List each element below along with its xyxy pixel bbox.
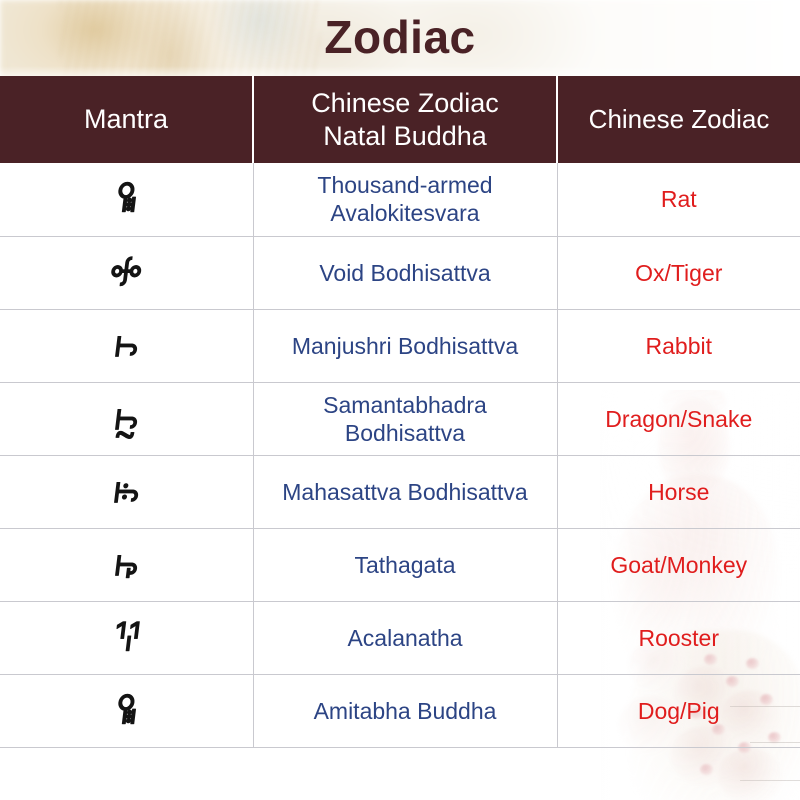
table-body: ꖥ Thousand-armed Avalokitesvara Rat ꖢ Vo… (0, 163, 800, 747)
cell-natal-buddha: Void Bodhisattva (253, 236, 557, 309)
cell-chinese-zodiac: Dog/Pig (557, 674, 800, 747)
natal-buddha-line1: Thousand-armed (262, 171, 549, 199)
table-row: ꖩ Samantabhadra Bodhisattva Dragon/Snake (0, 382, 800, 455)
table-row: ꖨ Manjushri Bodhisattva Rabbit (0, 309, 800, 382)
cell-chinese-zodiac: Horse (557, 455, 800, 528)
siddham-seed-syllable-an-icon: ꖩ (112, 399, 141, 438)
table-row: ꖥ Amitabha Buddha Dog/Pig (0, 674, 800, 747)
cell-chinese-zodiac: Dragon/Snake (557, 382, 800, 455)
siddham-seed-syllable-trah-icon: ꖢ (107, 253, 145, 292)
cell-natal-buddha: Tathagata (253, 528, 557, 601)
cell-mantra: ꖥ (0, 674, 253, 747)
table-row: ꖫ Tathagata Goat/Monkey (0, 528, 800, 601)
cell-mantra: ꖪ (0, 455, 253, 528)
cell-chinese-zodiac: Rooster (557, 601, 800, 674)
natal-buddha-line2: Bodhisattva (262, 419, 549, 447)
zodiac-infographic: Zodiac Mantra Chinese Zodiac Natal Buddh… (0, 0, 800, 800)
table-row: ꖪ Mahasattva Bodhisattva Horse (0, 455, 800, 528)
zodiac-table: Mantra Chinese Zodiac Natal Buddha Chine… (0, 76, 800, 748)
table-row: ꖥ Thousand-armed Avalokitesvara Rat (0, 163, 800, 236)
cell-mantra: ꖥ (0, 163, 253, 236)
cell-natal-buddha: Manjushri Bodhisattva (253, 309, 557, 382)
cell-chinese-zodiac: Rat (557, 163, 800, 236)
cell-mantra: ꖫ (0, 528, 253, 601)
cell-natal-buddha: Mahasattva Bodhisattva (253, 455, 557, 528)
column-header-mantra: Mantra (0, 76, 253, 163)
table-header: Mantra Chinese Zodiac Natal Buddha Chine… (0, 76, 800, 163)
natal-buddha-line2: Avalokitesvara (262, 199, 549, 227)
column-header-natal-buddha-line2: Natal Buddha (260, 120, 550, 153)
cell-chinese-zodiac: Goat/Monkey (557, 528, 800, 601)
cell-natal-buddha: Thousand-armed Avalokitesvara (253, 163, 557, 236)
cell-mantra: ꖩ (0, 382, 253, 455)
column-header-natal-buddha: Chinese Zodiac Natal Buddha (253, 76, 557, 163)
natal-buddha-line1: Samantabhadra (262, 391, 549, 419)
cell-chinese-zodiac: Rabbit (557, 309, 800, 382)
cell-mantra: ꖢ (0, 236, 253, 309)
page-title: Zodiac (0, 8, 800, 66)
cell-natal-buddha: Amitabha Buddha (253, 674, 557, 747)
siddham-seed-syllable-man-icon: ꖨ (112, 326, 141, 365)
table-row: ꖢ Void Bodhisattva Ox/Tiger (0, 236, 800, 309)
cell-natal-buddha: Acalanatha (253, 601, 557, 674)
siddham-seed-syllable-hrih-icon: ꖥ (113, 180, 140, 219)
siddham-seed-syllable-ham-icon: ꖬ (111, 618, 142, 657)
column-header-natal-buddha-line1: Chinese Zodiac (260, 87, 550, 120)
table-row: ꖬ Acalanatha Rooster (0, 601, 800, 674)
siddham-seed-syllable-sa-icon: ꖪ (111, 472, 142, 511)
siddham-seed-syllable-hrih-amitabha-icon: ꖥ (113, 691, 140, 730)
siddham-seed-syllable-bai-icon: ꖫ (112, 545, 141, 584)
cell-natal-buddha: Samantabhadra Bodhisattva (253, 382, 557, 455)
column-header-chinese-zodiac: Chinese Zodiac (557, 76, 800, 163)
cell-mantra: ꖨ (0, 309, 253, 382)
cell-chinese-zodiac: Ox/Tiger (557, 236, 800, 309)
cell-mantra: ꖬ (0, 601, 253, 674)
table-header-row: Mantra Chinese Zodiac Natal Buddha Chine… (0, 76, 800, 163)
